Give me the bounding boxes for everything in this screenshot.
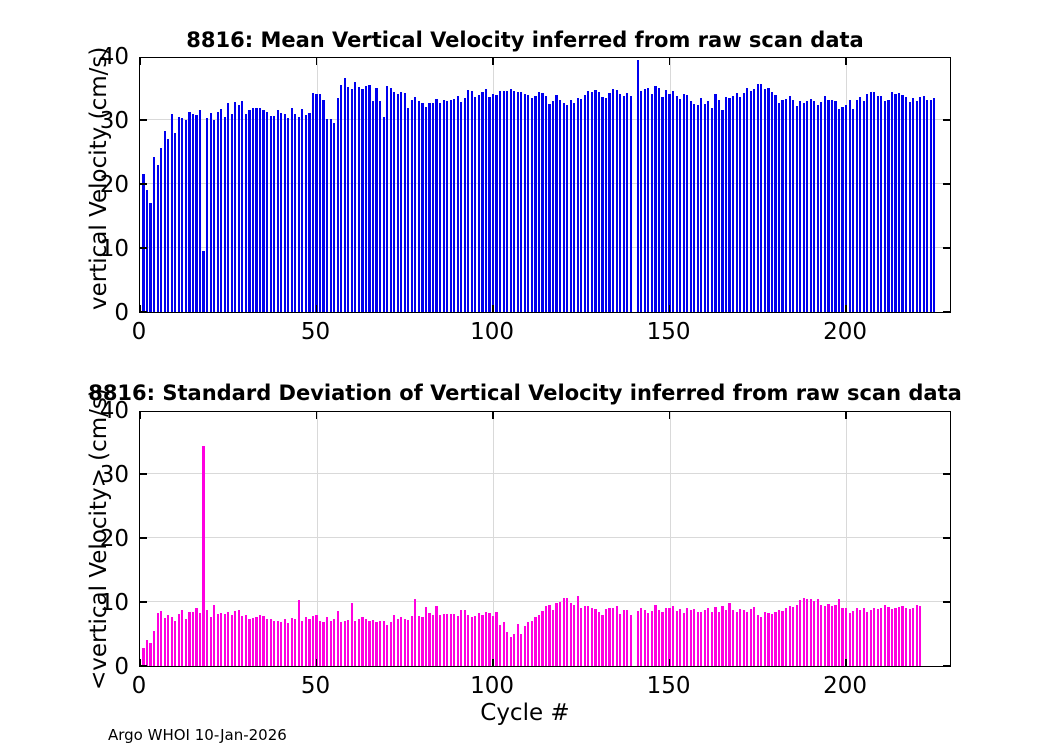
x-tick-label: 100 xyxy=(452,675,532,698)
x-tick-mark xyxy=(316,412,318,419)
x-tick-mark xyxy=(669,58,671,65)
y-tick-mark xyxy=(140,537,147,539)
y-tick-mark xyxy=(140,473,147,475)
x-tick-label: 150 xyxy=(629,675,709,698)
y-tick-label: 40 xyxy=(69,400,129,423)
figure-canvas: 8816: Mean Vertical Velocity inferred fr… xyxy=(0,0,1050,750)
x-tick-mark xyxy=(316,305,318,312)
x-tick-label: 0 xyxy=(99,675,179,698)
chart-title-std: 8816: Standard Deviation of Vertical Vel… xyxy=(0,381,1050,405)
y-tick-mark xyxy=(140,311,147,313)
y-tick-mark xyxy=(140,247,147,249)
plot-area-std xyxy=(139,411,951,667)
x-tick-mark xyxy=(845,58,847,65)
x-tick-mark xyxy=(492,659,494,666)
x-tick-mark xyxy=(669,659,671,666)
x-tick-mark xyxy=(669,412,671,419)
y-tick-mark xyxy=(140,601,147,603)
x-tick-label: 0 xyxy=(99,321,179,344)
y-tick-mark xyxy=(943,473,950,475)
y-tick-mark xyxy=(943,247,950,249)
y-tick-label: 20 xyxy=(69,174,129,197)
y-tick-label: 30 xyxy=(69,110,129,133)
x-tick-label: 200 xyxy=(805,321,885,344)
x-tick-mark xyxy=(492,58,494,65)
x-tick-mark xyxy=(139,58,141,65)
x-tick-mark xyxy=(845,305,847,312)
x-tick-mark xyxy=(139,412,141,419)
x-tick-mark xyxy=(669,305,671,312)
x-axis-label: Cycle # xyxy=(0,700,1050,726)
y-tick-mark xyxy=(943,537,950,539)
y-tick-label: 40 xyxy=(69,46,129,69)
y-tick-mark xyxy=(140,183,147,185)
y-tick-mark xyxy=(140,665,147,667)
y-tick-label: 20 xyxy=(69,528,129,551)
y-tick-mark xyxy=(943,665,950,667)
y-tick-label: 30 xyxy=(69,464,129,487)
y-tick-mark xyxy=(140,119,147,121)
x-tick-label: 50 xyxy=(276,321,356,344)
x-tick-label: 100 xyxy=(452,321,532,344)
y-tick-label: 10 xyxy=(69,238,129,261)
x-tick-mark xyxy=(139,659,141,666)
x-tick-mark xyxy=(316,58,318,65)
panel-mean-velocity: 8816: Mean Vertical Velocity inferred fr… xyxy=(0,0,1050,370)
plot-area-mean xyxy=(139,57,951,313)
y-tick-mark xyxy=(943,311,950,313)
x-tick-mark xyxy=(492,412,494,419)
tick-marks-std xyxy=(140,412,950,666)
footer-credit: Argo WHOI 10-Jan-2026 xyxy=(108,726,287,744)
y-tick-mark xyxy=(943,601,950,603)
tick-marks-mean xyxy=(140,58,950,312)
x-tick-label: 150 xyxy=(629,321,709,344)
x-tick-mark xyxy=(845,659,847,666)
x-tick-mark xyxy=(492,305,494,312)
x-tick-mark xyxy=(316,659,318,666)
x-tick-mark xyxy=(139,305,141,312)
y-tick-mark xyxy=(943,119,950,121)
x-tick-label: 200 xyxy=(805,675,885,698)
chart-title-mean: 8816: Mean Vertical Velocity inferred fr… xyxy=(0,28,1050,52)
y-tick-label: 10 xyxy=(69,592,129,615)
y-tick-mark xyxy=(943,183,950,185)
x-tick-mark xyxy=(845,412,847,419)
x-tick-label: 50 xyxy=(276,675,356,698)
